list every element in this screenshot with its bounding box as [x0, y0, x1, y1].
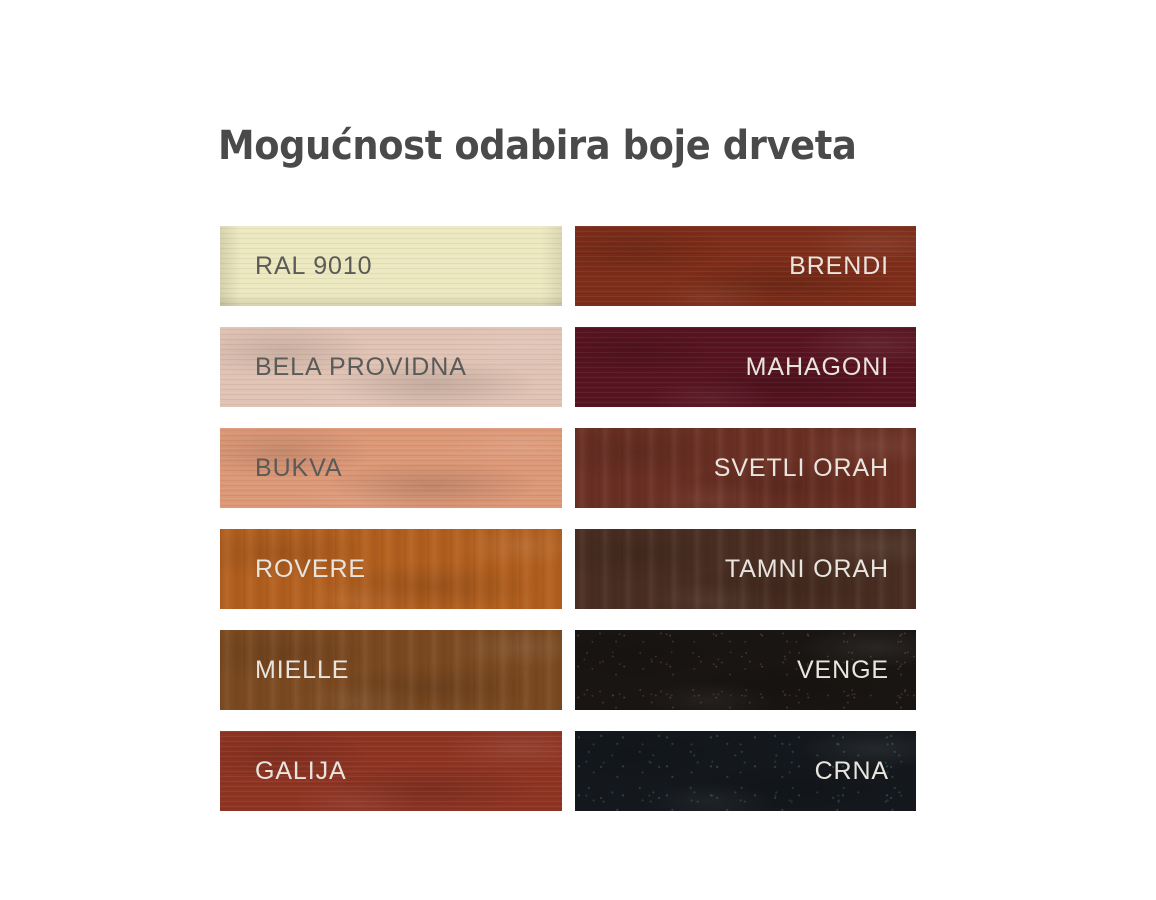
swatch-row: RAL 9010 BRENDI — [220, 226, 916, 306]
swatch-label: MIELLE — [220, 656, 562, 685]
swatch-label: CRNA — [575, 757, 917, 786]
swatch-label: BELA PROVIDNA — [220, 353, 562, 382]
swatch-crna[interactable]: CRNA — [575, 731, 917, 811]
swatch-row: ROVERE TAMNI ORAH — [220, 529, 916, 609]
page-title: Mogućnost odabira boje drveta — [218, 124, 917, 168]
swatch-label: TAMNI ORAH — [575, 555, 917, 584]
swatch-bukva[interactable]: BUKVA — [220, 428, 562, 508]
swatch-venge[interactable]: VENGE — [575, 630, 917, 710]
swatch-row: MIELLE VENGE — [220, 630, 916, 710]
swatch-label: MAHAGONI — [575, 353, 917, 382]
swatch-label: SVETLI ORAH — [575, 454, 917, 483]
swatch-rovere[interactable]: ROVERE — [220, 529, 562, 609]
swatch-tamni-orah[interactable]: TAMNI ORAH — [575, 529, 917, 609]
swatch-galija[interactable]: GALIJA — [220, 731, 562, 811]
swatch-label: BRENDI — [575, 252, 917, 281]
swatch-svetli-orah[interactable]: SVETLI ORAH — [575, 428, 917, 508]
swatch-row: BUKVA SVETLI ORAH — [220, 428, 916, 508]
swatch-brendi[interactable]: BRENDI — [575, 226, 917, 306]
wood-color-swatch-grid: RAL 9010 BRENDI BELA PROVIDNA MAHAGONI — [220, 226, 916, 811]
swatch-row: GALIJA CRNA — [220, 731, 916, 811]
color-selection-page: Mogućnost odabira boje drveta RAL 9010 B… — [0, 0, 1156, 900]
swatch-mahagoni[interactable]: MAHAGONI — [575, 327, 917, 407]
swatch-label: ROVERE — [220, 555, 562, 584]
swatch-ral-9010[interactable]: RAL 9010 — [220, 226, 562, 306]
swatch-bela-providna[interactable]: BELA PROVIDNA — [220, 327, 562, 407]
swatch-label: GALIJA — [220, 757, 562, 786]
swatch-label: VENGE — [575, 656, 917, 685]
swatch-label: RAL 9010 — [220, 252, 562, 281]
swatch-label: BUKVA — [220, 454, 562, 483]
swatch-row: BELA PROVIDNA MAHAGONI — [220, 327, 916, 407]
swatch-mielle[interactable]: MIELLE — [220, 630, 562, 710]
